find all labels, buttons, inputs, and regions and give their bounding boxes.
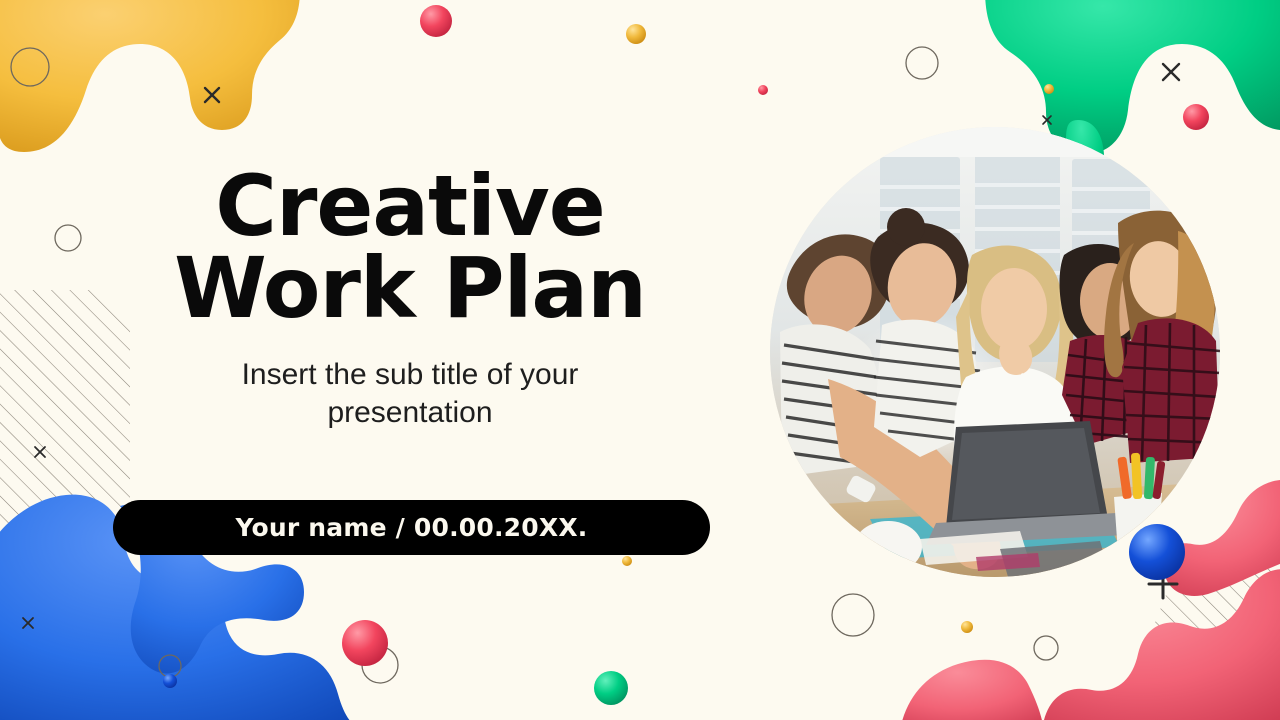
yellow-dot-bottom bbox=[622, 556, 632, 566]
author-date-label: Your name / 00.00.20XX. bbox=[235, 513, 587, 542]
yellow-dot-bottom-right bbox=[961, 621, 973, 633]
circle-outline-blue-dot bbox=[159, 655, 181, 677]
circle-outline-top-right bbox=[906, 47, 938, 79]
cross-mark-top-left bbox=[205, 88, 219, 102]
hero-photo-circle bbox=[770, 127, 1220, 577]
circle-outline-bottom-right bbox=[1034, 636, 1058, 660]
red-splash-blob bbox=[1042, 569, 1280, 720]
cross-mark-left bbox=[35, 447, 45, 457]
red-sphere-top bbox=[420, 5, 452, 37]
blue-dot-bottom-left bbox=[163, 674, 177, 688]
green-sphere-bottom bbox=[594, 671, 628, 705]
cross-mark-lower-left bbox=[23, 618, 33, 628]
cross-mark-top-right bbox=[1163, 64, 1179, 80]
yellow-sphere-top bbox=[626, 24, 646, 44]
circle-outline-bottom-left bbox=[362, 647, 398, 683]
red-dot-top bbox=[758, 85, 768, 95]
coffee-cup-left bbox=[854, 521, 922, 573]
red-wave-blob bbox=[900, 660, 1044, 720]
yellow-drip-blob bbox=[0, 0, 300, 152]
circle-outline-bottom-center bbox=[832, 594, 874, 636]
circle-outline-top-left bbox=[11, 48, 49, 86]
yellow-dot-upper-right bbox=[1044, 84, 1054, 94]
coffee-cup-right bbox=[1152, 519, 1208, 563]
presentation-slide: Creative Work Plan Insert the sub title … bbox=[0, 0, 1280, 720]
title-block: Creative Work Plan Insert the sub title … bbox=[60, 165, 760, 432]
author-date-pill[interactable]: Your name / 00.00.20XX. bbox=[113, 500, 710, 555]
page-subtitle: Insert the sub title of your presentatio… bbox=[60, 356, 760, 433]
red-sphere-bottom-left bbox=[342, 620, 388, 666]
cross-mark-upper-right-small bbox=[1043, 116, 1051, 124]
page-title: Creative Work Plan bbox=[60, 165, 760, 330]
